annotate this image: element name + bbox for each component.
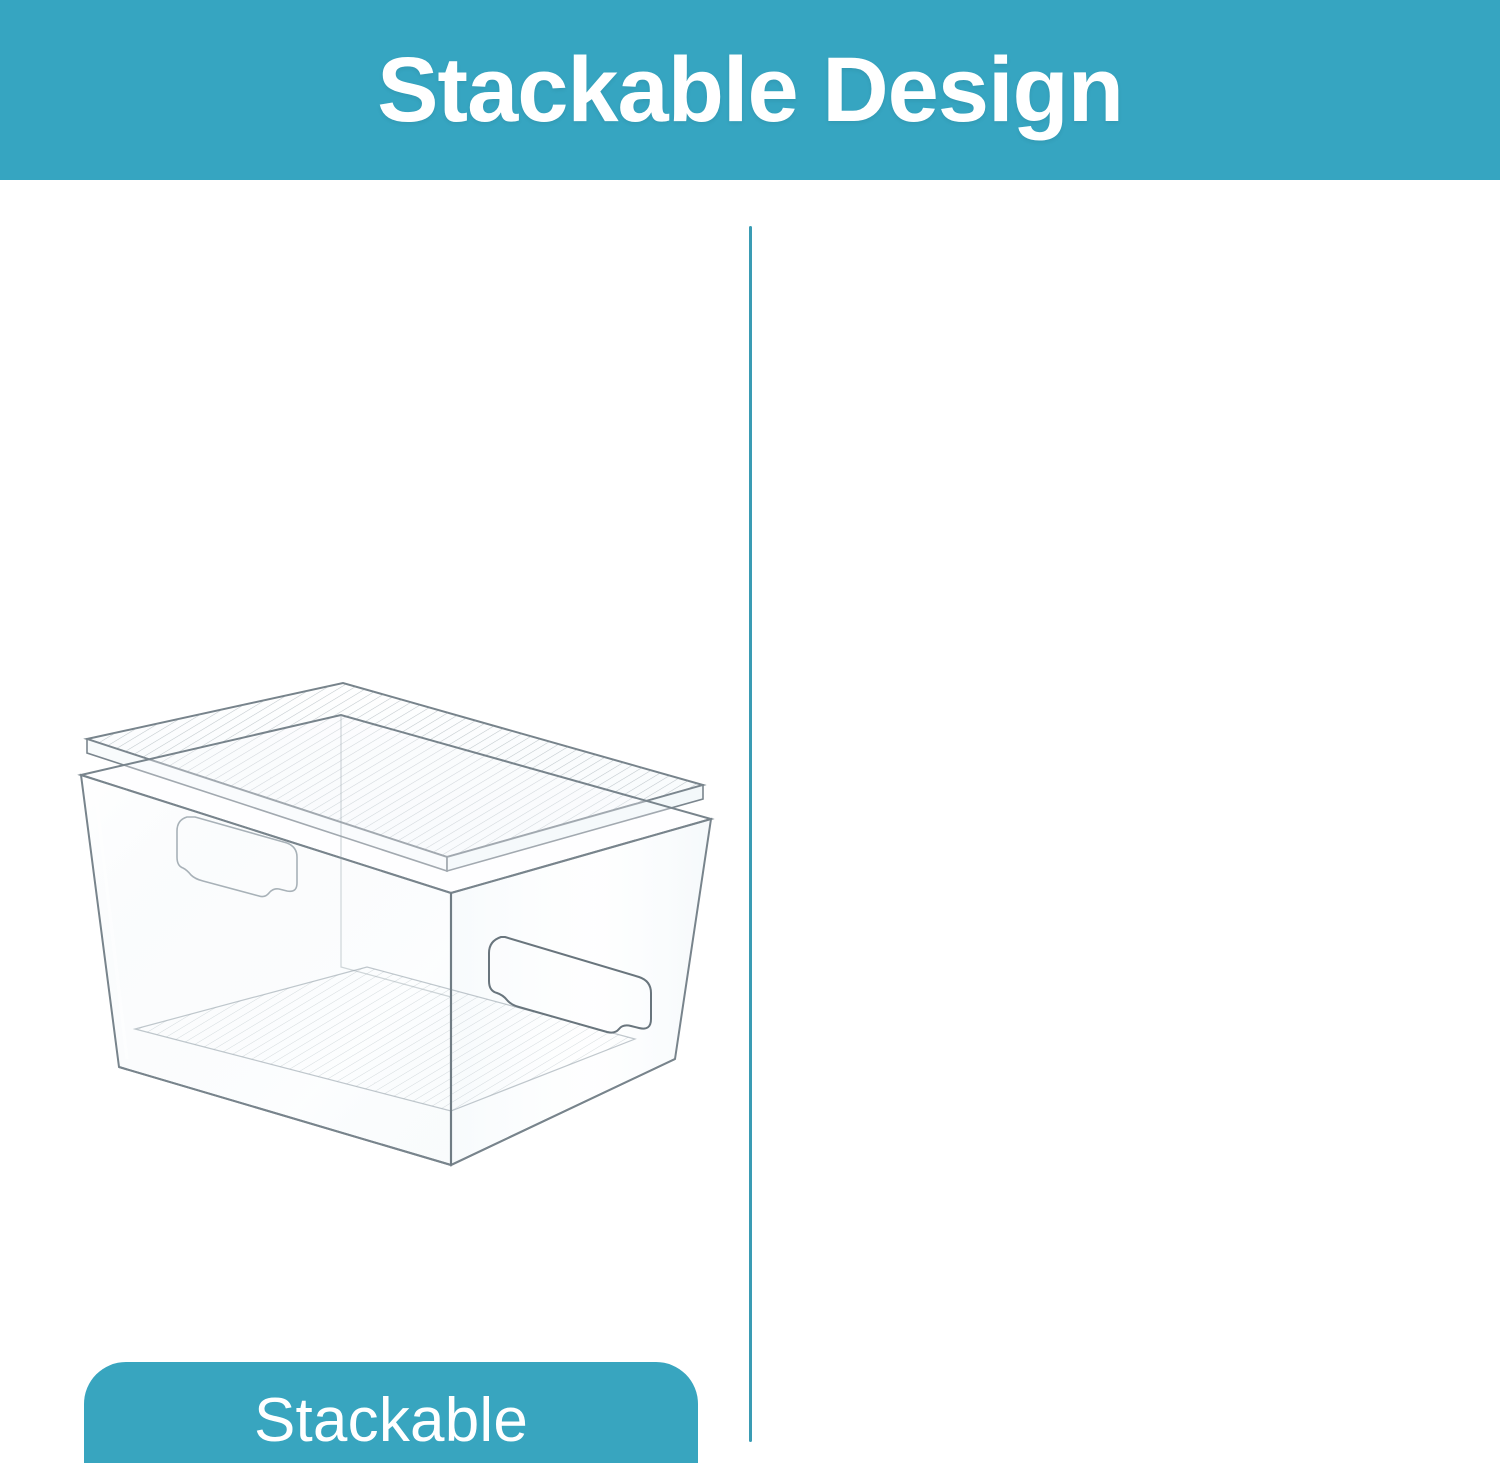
panel-stackable-with-lids: 100g FILLED CRISPY ROLLS the new flavor,… <box>750 180 1500 1463</box>
panel-stackable-without-use: Stackable without use <box>0 180 750 1463</box>
bin-empty-illustration <box>75 667 715 1207</box>
page-title: Stackable Design <box>377 44 1123 136</box>
caption-text-left: Stackable without use <box>233 1385 549 1463</box>
clear-storage-bin-empty <box>75 667 715 1207</box>
caption-stackable-without-use: Stackable without use <box>84 1362 698 1463</box>
header-band: Stackable Design <box>0 0 1500 180</box>
caption-left-line1: Stackable <box>233 1385 549 1457</box>
infographic-page: Stackable Design <box>0 0 1500 1463</box>
caption-left-line2: without use <box>233 1457 549 1463</box>
